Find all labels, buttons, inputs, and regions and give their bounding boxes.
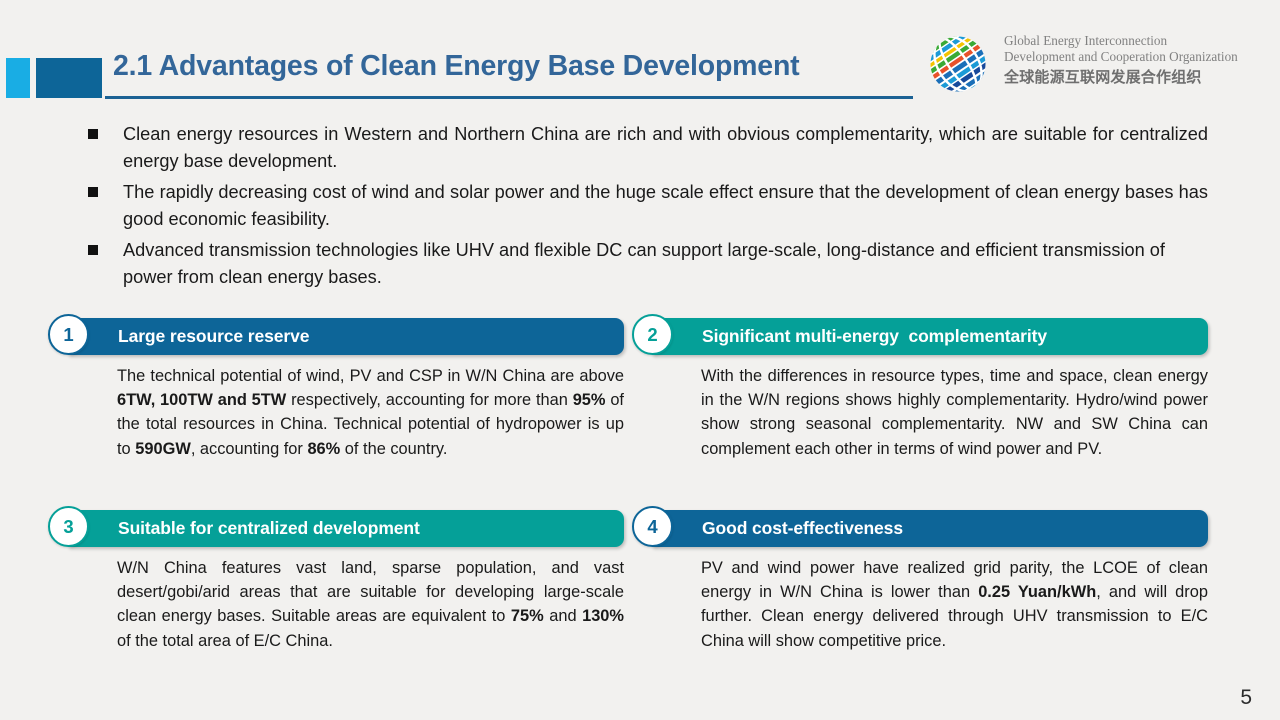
card-body-text: W/N China features vast land, sparse pop…: [117, 556, 624, 653]
advantage-card-1: 1 Large resource reserve The technical p…: [68, 318, 624, 461]
globe-logo-icon: [922, 28, 994, 100]
card-body-text: With the differences in resource types, …: [701, 364, 1208, 461]
advantage-card-3: 3 Suitable for centralized development W…: [68, 510, 624, 653]
card-title: Suitable for centralized development: [118, 518, 420, 539]
card-body-text: PV and wind power have realized grid par…: [701, 556, 1208, 653]
card-number-badge: 2: [632, 314, 673, 355]
card-number-badge: 1: [48, 314, 89, 355]
logo-line-en-2: Development and Cooperation Organization: [1004, 49, 1264, 65]
bullet-text: Advanced transmission technologies like …: [123, 237, 1208, 291]
card-header-bar: 3 Suitable for centralized development: [68, 510, 624, 547]
bullet-list: Clean energy resources in Western and No…: [88, 121, 1208, 295]
square-bullet-icon: [88, 245, 98, 255]
card-title: Large resource reserve: [118, 326, 309, 347]
bullet-text: The rapidly decreasing cost of wind and …: [123, 179, 1208, 233]
card-number-badge: 4: [632, 506, 673, 547]
bullet-item: Advanced transmission technologies like …: [88, 237, 1208, 291]
square-bullet-icon: [88, 129, 98, 139]
logo-line-cn: 全球能源互联网发展合作组织: [1004, 67, 1264, 88]
card-header-bar: 4 Good cost-effectiveness: [652, 510, 1208, 547]
page-title: 2.1 Advantages of Clean Energy Base Deve…: [113, 50, 799, 83]
accent-block-cyan: [6, 58, 30, 98]
bullet-item: The rapidly decreasing cost of wind and …: [88, 179, 1208, 233]
page-number: 5: [1240, 686, 1252, 710]
square-bullet-icon: [88, 187, 98, 197]
organization-name-text: Global Energy Interconnection Developmen…: [1004, 33, 1264, 88]
advantage-card-2: 2 Significant multi-energy complementari…: [652, 318, 1208, 461]
card-header-bar: 1 Large resource reserve: [68, 318, 624, 355]
bullet-text: Clean energy resources in Western and No…: [123, 121, 1208, 175]
accent-block-blue: [36, 58, 102, 98]
card-number-badge: 3: [48, 506, 89, 547]
advantage-card-4: 4 Good cost-effectiveness PV and wind po…: [652, 510, 1208, 653]
bullet-item: Clean energy resources in Western and No…: [88, 121, 1208, 175]
card-body-text: The technical potential of wind, PV and …: [117, 364, 624, 461]
title-underline-rule: [105, 96, 913, 99]
organization-logo-block: Global Energy Interconnection Developmen…: [922, 26, 1262, 102]
card-title: Significant multi-energy complementarity: [702, 326, 1047, 347]
slide-header: 2.1 Advantages of Clean Energy Base Deve…: [0, 0, 1280, 112]
card-header-bar: 2 Significant multi-energy complementari…: [652, 318, 1208, 355]
logo-line-en-1: Global Energy Interconnection: [1004, 33, 1264, 49]
card-title: Good cost-effectiveness: [702, 518, 903, 539]
